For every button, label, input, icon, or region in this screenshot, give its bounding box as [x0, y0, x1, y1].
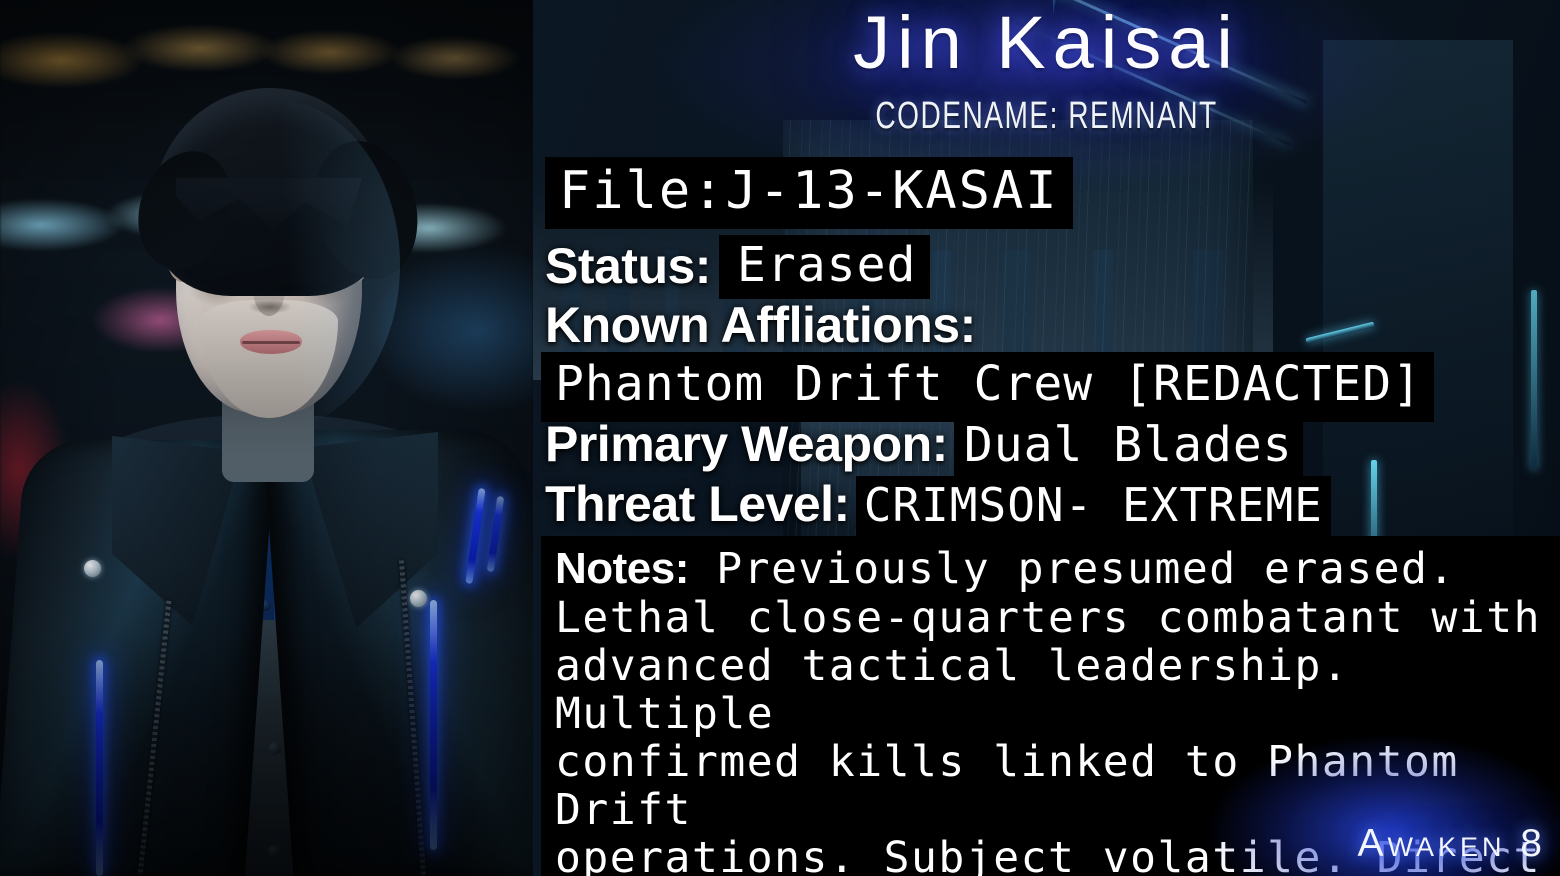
character-portrait	[0, 0, 533, 876]
weapon-value: Dual Blades	[954, 415, 1303, 479]
notes-label: Notes:	[555, 544, 689, 593]
threat-label: Threat Level:	[545, 476, 850, 532]
field-affiliations-label: Known Affliations:	[545, 296, 976, 354]
field-primary-weapon: Primary Weapon:Dual Blades	[545, 415, 1303, 479]
character-dossier-card: Jin Kaisai CODENAME: REMNANT File:J-13-K…	[0, 0, 1560, 876]
field-file: File:J-13-KASAI	[545, 157, 1073, 229]
weapon-label: Primary Weapon:	[545, 416, 948, 472]
affiliations-label: Known Affliations:	[545, 297, 976, 353]
notes-first-line: Previously presumed erased.	[689, 544, 1456, 594]
field-affiliations-value: Phantom Drift Crew [REDACTED]	[541, 352, 1434, 422]
affiliations-value: Phantom Drift Crew [REDACTED]	[541, 352, 1434, 422]
field-threat-level: Threat Level:CRIMSON- EXTREME	[545, 475, 1331, 538]
field-status: Status:Erased	[545, 235, 930, 299]
portrait-vignette	[0, 0, 533, 876]
status-value: Erased	[719, 235, 930, 299]
watermark-label: Awaken 8	[1357, 822, 1546, 866]
file-value: File:J-13-KASAI	[545, 157, 1073, 229]
status-label: Status:	[545, 238, 711, 294]
threat-value: CRIMSON- EXTREME	[856, 476, 1331, 538]
dossier-panel: Jin Kaisai CODENAME: REMNANT File:J-13-K…	[533, 0, 1560, 876]
